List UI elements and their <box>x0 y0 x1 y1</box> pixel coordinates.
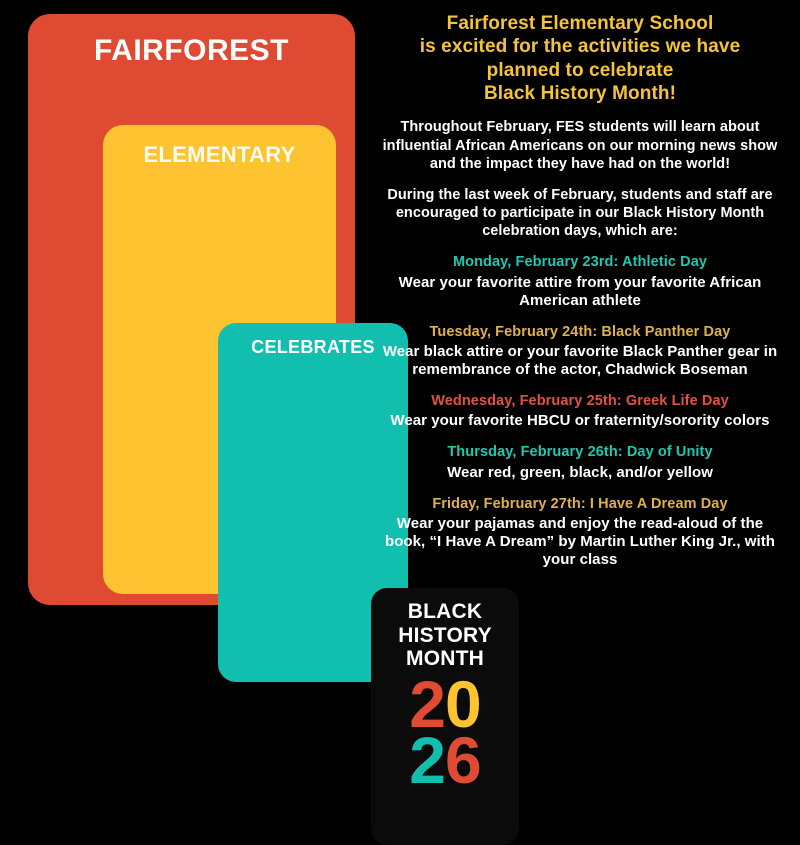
poster-year: 20 26 <box>371 677 519 788</box>
day-heading-monday: Monday, February 23rd: Athletic Day <box>376 254 784 271</box>
day-body-wednesday: Wear your favorite HBCU or fraternity/so… <box>376 412 784 430</box>
headline: Fairforest Elementary School is excited … <box>376 12 784 105</box>
intro-paragraph-2: During the last week of February, studen… <box>382 186 778 240</box>
day-entry-tuesday: Tuesday, February 24th: Black Panther Da… <box>376 324 784 379</box>
poster-bhm-line-2: HISTORY <box>371 624 519 648</box>
day-entry-wednesday: Wednesday, February 25th: Greek Life Day… <box>376 393 784 430</box>
day-entry-thursday: Thursday, February 26th: Day of Unity We… <box>376 444 784 481</box>
intro-paragraph-1: Throughout February, FES students will l… <box>382 118 778 172</box>
poster-card-red: FAIRFOREST ELEMENTARY CELEBRATES BLACK H… <box>28 14 355 605</box>
headline-line-2: is excited for the activities we have <box>376 35 784 58</box>
poster-card-yellow: ELEMENTARY CELEBRATES BLACK HISTORY MONT… <box>103 125 336 594</box>
day-entry-friday: Friday, February 27th: I Have A Dream Da… <box>376 496 784 569</box>
poster-school-name: FAIRFOREST <box>28 34 355 68</box>
day-heading-wednesday: Wednesday, February 25th: Greek Life Day <box>376 393 784 410</box>
day-body-friday: Wear your pajamas and enjoy the read-alo… <box>376 515 784 569</box>
headline-line-3: planned to celebrate <box>376 59 784 82</box>
poster-card-black: BLACK HISTORY MONTH 20 26 <box>371 588 519 845</box>
day-heading-friday: Friday, February 27th: I Have A Dream Da… <box>376 496 784 513</box>
day-body-thursday: Wear red, green, black, and/or yellow <box>376 464 784 482</box>
announcement-text-column: Fairforest Elementary School is excited … <box>362 0 800 616</box>
poster-year-bottom-row: 26 <box>371 733 519 788</box>
poster-year-digit-2b: 2 <box>409 723 445 797</box>
day-entry-monday: Monday, February 23rd: Athletic Day Wear… <box>376 254 784 309</box>
day-heading-thursday: Thursday, February 26th: Day of Unity <box>376 444 784 461</box>
poster-elementary-label: ELEMENTARY <box>103 142 336 168</box>
day-heading-tuesday: Tuesday, February 24th: Black Panther Da… <box>376 324 784 341</box>
poster-year-digit-6: 6 <box>445 723 481 797</box>
poster-graphic: FAIRFOREST ELEMENTARY CELEBRATES BLACK H… <box>0 0 362 616</box>
headline-line-4: Black History Month! <box>376 82 784 105</box>
day-body-monday: Wear your favorite attire from your favo… <box>376 274 784 310</box>
black-history-month-flyer: FAIRFOREST ELEMENTARY CELEBRATES BLACK H… <box>0 0 800 616</box>
day-body-tuesday: Wear black attire or your favorite Black… <box>376 343 784 379</box>
headline-line-1: Fairforest Elementary School <box>376 12 784 35</box>
